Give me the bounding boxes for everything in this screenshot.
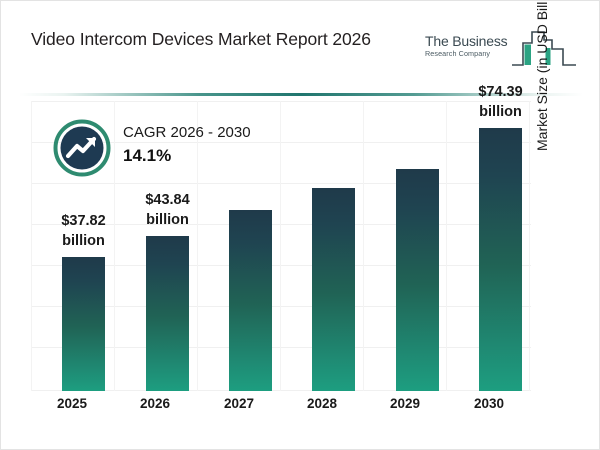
bar-value-amount: $37.82	[39, 211, 129, 231]
cagr-value: 14.1%	[123, 144, 251, 168]
header: Video Intercom Devices Market Report 202…	[1, 1, 600, 94]
bar-2030	[479, 128, 522, 391]
bar-value-label-2026: $43.84billion	[123, 190, 213, 230]
x-tick-2030: 2030	[448, 396, 530, 411]
x-tick-2028: 2028	[281, 396, 363, 411]
x-axis: 202520262027202820292030	[31, 393, 531, 417]
company-logo: The Business Research Company	[425, 27, 577, 73]
bar-value-unit: billion	[39, 231, 129, 251]
logo-line-1: The Business	[425, 34, 517, 49]
cagr-badge: CAGR 2026 - 2030 14.1%	[53, 119, 283, 181]
bar-value-unit: billion	[456, 102, 546, 122]
bar-2029	[396, 169, 439, 391]
bar-value-amount: $43.84	[123, 190, 213, 210]
bar-value-label-2030: $74.39billion	[456, 82, 546, 122]
bar-value-label-2025: $37.82billion	[39, 211, 129, 251]
trending-up-icon	[53, 119, 111, 177]
logo-line-2: Research Company	[425, 49, 517, 59]
cagr-label: CAGR 2026 - 2030	[123, 122, 251, 144]
bar-2026	[146, 236, 189, 391]
logo-wordmark: The Business Research Company	[425, 34, 517, 59]
bar-2027	[229, 210, 272, 391]
cagr-text-block: CAGR 2026 - 2030 14.1%	[123, 122, 251, 168]
x-tick-2027: 2027	[198, 396, 280, 411]
bar-value-amount: $74.39	[456, 82, 546, 102]
x-tick-2025: 2025	[31, 396, 113, 411]
bar-2028	[312, 188, 355, 391]
bar-2025	[62, 257, 105, 391]
page-title: Video Intercom Devices Market Report 202…	[31, 27, 401, 52]
x-tick-2029: 2029	[364, 396, 446, 411]
bar-value-unit: billion	[123, 210, 213, 230]
x-tick-2026: 2026	[114, 396, 196, 411]
y-axis-label: Market Size (in USD Billion)	[534, 0, 550, 151]
chart-infographic: Video Intercom Devices Market Report 202…	[0, 0, 600, 450]
